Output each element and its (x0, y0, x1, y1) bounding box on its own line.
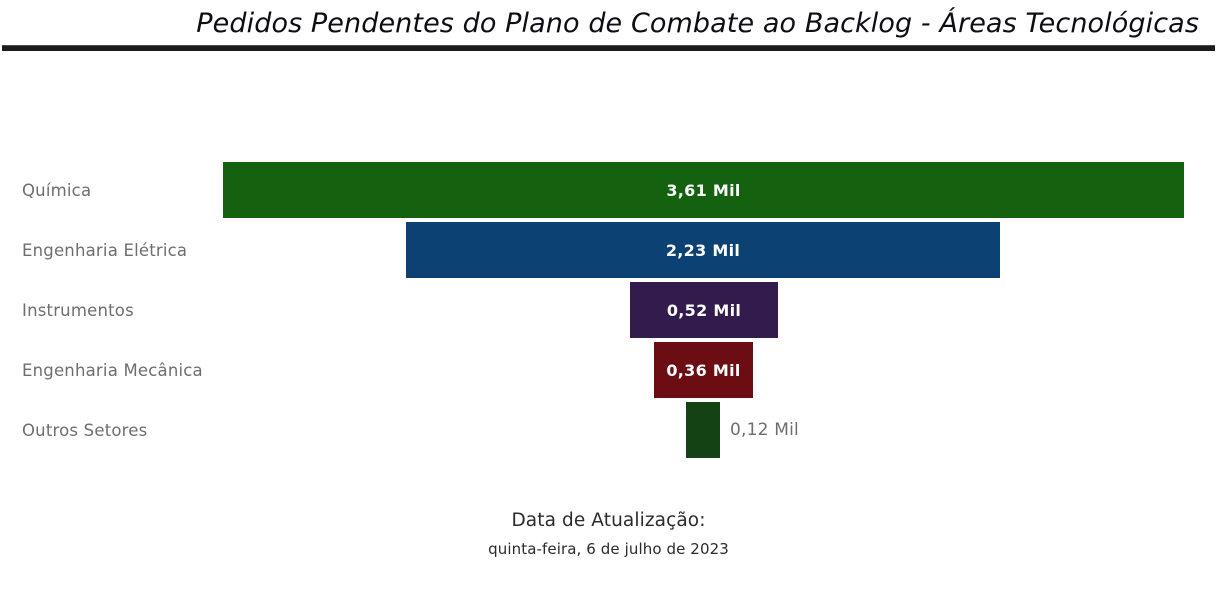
bar-row: Outros Setores 0,12 Mil (0, 400, 1217, 460)
bar-outros-setores[interactable] (686, 402, 720, 458)
bar-row: Instrumentos 0,52 Mil (0, 280, 1217, 340)
category-label-instrumentos: Instrumentos (22, 280, 134, 340)
update-date-block: Data de Atualização: quinta-feira, 6 de … (0, 508, 1217, 561)
bar-engenharia-eletrica[interactable]: 2,23 Mil (406, 222, 1000, 278)
bar-quimica[interactable]: 3,61 Mil (223, 162, 1184, 218)
bar-value-instrumentos: 0,52 Mil (667, 301, 741, 320)
bar-row: Química 3,61 Mil (0, 160, 1217, 220)
bar-value-engenharia-eletrica: 2,23 Mil (666, 241, 740, 260)
bar-instrumentos[interactable]: 0,52 Mil (630, 282, 778, 338)
category-label-outros-setores: Outros Setores (22, 400, 147, 460)
category-label-engenharia-mecanica: Engenharia Mecânica (22, 340, 203, 400)
bar-engenharia-mecanica[interactable]: 0,36 Mil (654, 342, 753, 398)
category-label-quimica: Química (22, 160, 91, 220)
page-title: Pedidos Pendentes do Plano de Combate ao… (196, 6, 1199, 42)
category-label-engenharia-eletrica: Engenharia Elétrica (22, 220, 187, 280)
bar-chart-plot-area: Química 3,61 Mil Engenharia Elétrica 2,2… (0, 160, 1217, 465)
update-date-label: Data de Atualização: (0, 508, 1217, 534)
bar-value-quimica: 3,61 Mil (666, 181, 740, 200)
bar-value-engenharia-mecanica: 0,36 Mil (666, 361, 740, 380)
bar-value-outros-setores: 0,12 Mil (730, 400, 799, 460)
update-date-value: quinta-feira, 6 de julho de 2023 (0, 537, 1217, 561)
chart-header: Pedidos Pendentes do Plano de Combate ao… (0, 0, 1217, 48)
bar-row: Engenharia Mecânica 0,36 Mil (0, 340, 1217, 400)
bar-row: Engenharia Elétrica 2,23 Mil (0, 220, 1217, 280)
title-divider (2, 45, 1215, 51)
